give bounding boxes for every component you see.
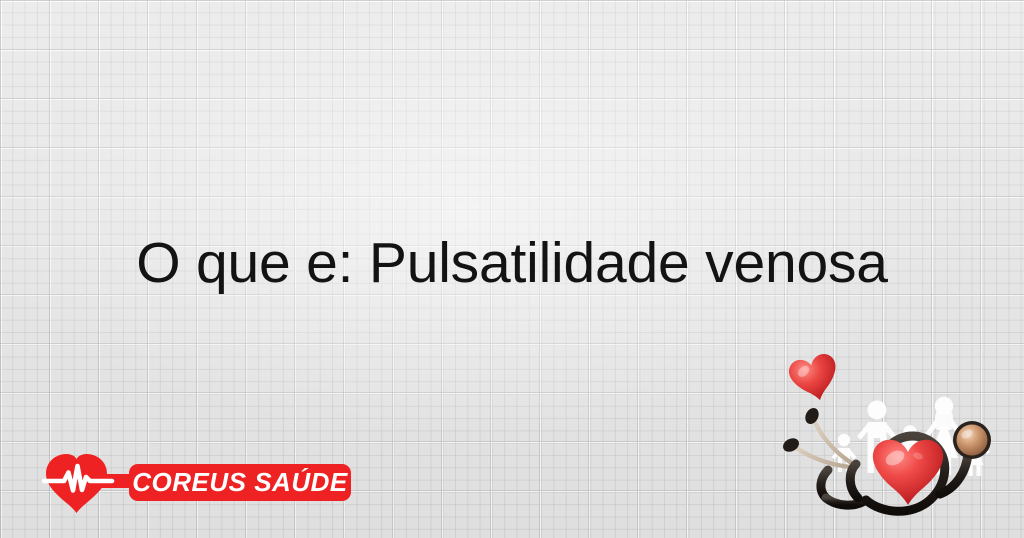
health-illustration [770,348,1024,538]
page-title: O que e: Pulsatilidade venosa [0,232,1024,295]
slide-canvas: O que e: Pulsatilidade venosa COREUS SAÚ… [0,0,1024,538]
heart-pulse-icon [44,454,142,513]
brand-badge: COREUS SAÚDE [129,464,351,501]
brand-logo[interactable]: COREUS SAÚDE [26,446,356,528]
brand-name-text: COREUS SAÚDE [132,467,348,497]
small-red-heart [786,352,842,406]
stethoscope-chestpiece [953,421,991,459]
